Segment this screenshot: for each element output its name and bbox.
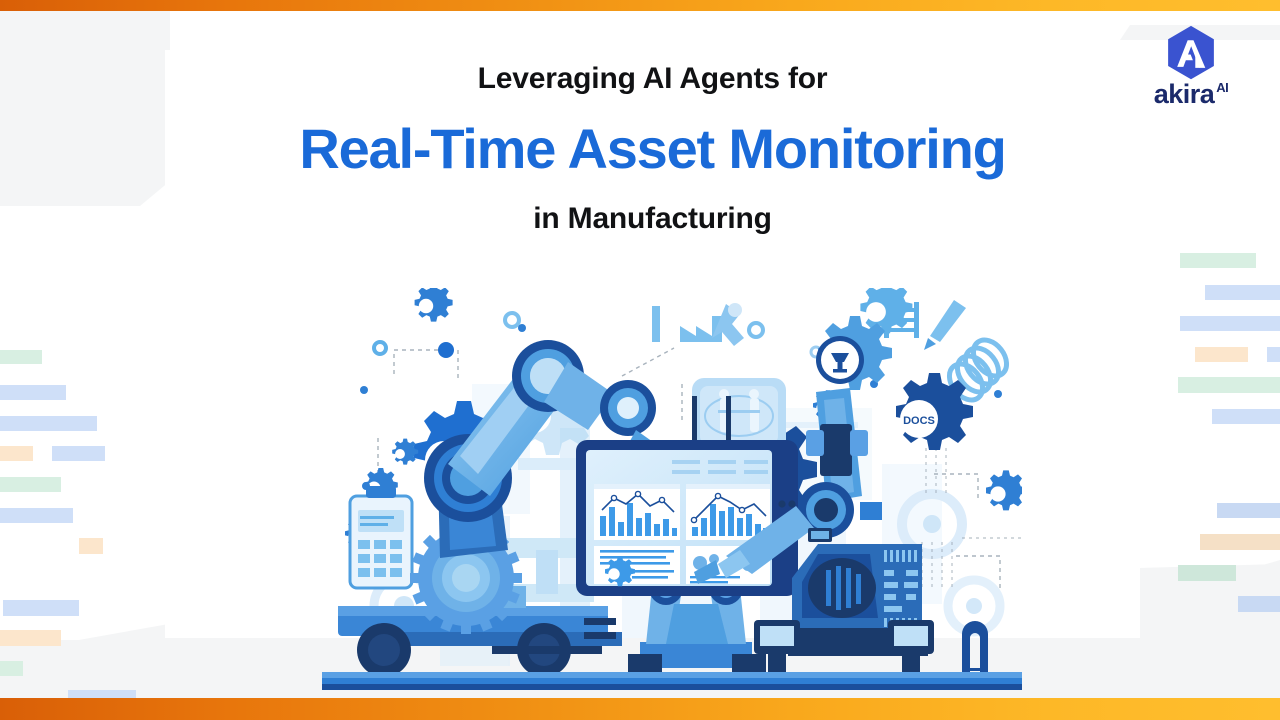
handheld-tablet-device <box>350 486 412 588</box>
decorative-bar-right-1 <box>1205 285 1280 300</box>
logo-text-ai: AI <box>1216 81 1228 94</box>
slide-canvas: akira AI Leveraging AI Agents for Real-T… <box>0 0 1280 720</box>
hero-illustration: DOCS <box>322 288 1022 700</box>
decorative-bar-left-6 <box>0 508 73 523</box>
decorative-bar-left-2 <box>0 416 97 431</box>
decorative-bar-left-7 <box>79 538 103 554</box>
decorative-bar-right-10 <box>1238 596 1280 612</box>
title-block: Leveraging AI Agents for Real-Time Asset… <box>165 52 1140 236</box>
decorative-bar-right-6 <box>1212 409 1280 424</box>
decorative-bar-right-7 <box>1217 503 1280 518</box>
decorative-bar-left-8 <box>3 600 79 616</box>
decorative-bar-left-9 <box>0 630 61 646</box>
decorative-bar-right-8 <box>1200 534 1280 550</box>
decorative-bar-left-3 <box>0 446 33 461</box>
title-line-3: in Manufacturing <box>165 202 1140 236</box>
top-accent-bar <box>0 0 1280 11</box>
decorative-bar-right-0 <box>1180 253 1256 268</box>
decorative-bar-left-4 <box>52 446 105 461</box>
decorative-bar-left-1 <box>0 385 66 400</box>
bottom-accent-bar <box>0 698 1280 720</box>
decorative-bar-left-10 <box>0 661 23 676</box>
logo-wordmark: akira AI <box>1154 81 1229 108</box>
panel-text-gear <box>594 546 680 586</box>
conveyor-platform <box>322 672 1022 690</box>
logo-text-akira: akira <box>1154 81 1215 108</box>
panel-bar-line-right <box>686 484 770 540</box>
title-line-1: Leveraging AI Agents for <box>165 62 1140 96</box>
decorative-bar-right-2 <box>1180 316 1280 331</box>
decorative-bar-right-9 <box>1178 565 1236 581</box>
panel-bar-line-left <box>594 484 680 540</box>
docs-gear-label: DOCS <box>903 415 935 427</box>
title-line-2-highlight: Real-Time Asset Monitoring <box>165 118 1140 180</box>
decorative-bar-left-0 <box>0 350 42 364</box>
decorative-bar-right-3 <box>1195 347 1248 362</box>
hexagon-logo-icon <box>1160 24 1222 85</box>
decorative-bar-right-5 <box>1178 377 1280 393</box>
decorative-bar-right-4 <box>1267 347 1280 362</box>
top-left-corner-notch <box>0 11 170 206</box>
akira-ai-logo[interactable]: akira AI <box>1132 24 1250 108</box>
decorative-bar-left-5 <box>0 477 61 492</box>
